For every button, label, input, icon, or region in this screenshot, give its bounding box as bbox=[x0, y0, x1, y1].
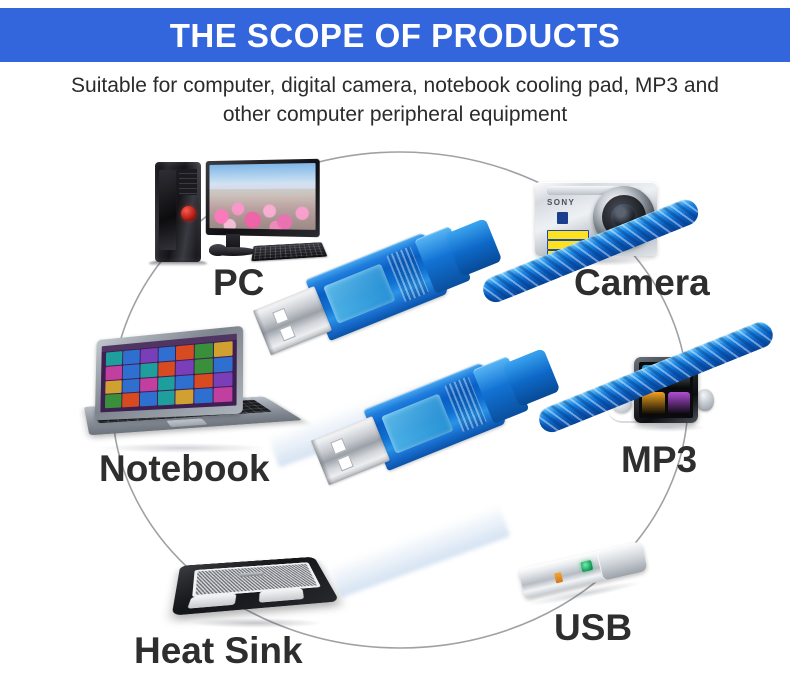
tower-drive-bays bbox=[179, 169, 197, 195]
notebook-screen-tile bbox=[158, 346, 175, 361]
usb-connector-metal-tip bbox=[311, 416, 390, 485]
usb-cable-strain-relief bbox=[502, 348, 560, 407]
camera-lens-glass bbox=[611, 204, 637, 230]
usb-connector-shell bbox=[305, 232, 448, 341]
monitor-screen-wallpaper bbox=[209, 163, 315, 230]
product-label-mp3: MP3 bbox=[621, 441, 697, 478]
camera-sticker bbox=[547, 250, 589, 260]
notebook-screen-tile bbox=[214, 372, 233, 387]
mp3-app-icon bbox=[668, 392, 691, 416]
notebook-screen-tile bbox=[106, 351, 122, 366]
desktop-computer-icon bbox=[155, 162, 201, 262]
usb-connector-window bbox=[381, 394, 453, 454]
usb-connector-grip-ribs bbox=[386, 246, 429, 302]
usb-connector-grip-ribs bbox=[444, 376, 487, 432]
product-notebook bbox=[84, 333, 284, 451]
usb-connector-window bbox=[323, 264, 395, 324]
notebook-screen-tile bbox=[176, 345, 194, 360]
notebook-screen bbox=[100, 334, 236, 413]
notebook-screen-tile bbox=[140, 392, 157, 407]
usb-connector-shell bbox=[363, 362, 506, 471]
tower-shadow bbox=[149, 261, 207, 267]
notebook-screen-tile bbox=[140, 363, 157, 378]
mp3-app-icon bbox=[642, 365, 665, 389]
product-mp3 bbox=[608, 355, 738, 441]
usb-drive-cap bbox=[596, 541, 648, 581]
mp3-shadow bbox=[628, 423, 706, 432]
notebook-screen-tile bbox=[123, 350, 140, 365]
product-pc bbox=[143, 158, 323, 270]
notebook-screen-tile bbox=[140, 348, 157, 363]
camera-lens-mid-ring bbox=[602, 195, 646, 239]
camera-sticker bbox=[547, 230, 589, 240]
tower-power-badge bbox=[181, 206, 196, 221]
notebook-screen-tile bbox=[123, 364, 140, 379]
camera-brand-text: SONY bbox=[547, 198, 575, 207]
product-scope-infographic: THE SCOPE OF PRODUCTS Suitable for compu… bbox=[0, 0, 790, 685]
mp3-app-icon bbox=[668, 365, 691, 389]
product-usb bbox=[520, 545, 670, 615]
mp3-screen bbox=[639, 362, 693, 418]
product-label-heat-sink: Heat Sink bbox=[134, 632, 303, 669]
notebook-screen-tile bbox=[195, 373, 213, 388]
notebook-screen-tile bbox=[158, 361, 175, 376]
usb-connector-collar bbox=[414, 226, 471, 294]
camera-lens-barrel bbox=[593, 186, 655, 248]
mp3-app-icon bbox=[642, 392, 665, 416]
laptop-icon bbox=[95, 326, 243, 421]
monitor-bezel bbox=[206, 159, 320, 237]
heat-sink-shadow bbox=[188, 618, 324, 628]
notebook-screen-tile bbox=[214, 356, 233, 372]
notebook-screen-tile bbox=[140, 377, 157, 392]
header-banner: THE SCOPE OF PRODUCTS bbox=[0, 8, 790, 62]
notebook-screen-tile bbox=[105, 380, 121, 394]
notebook-screen-tile bbox=[157, 391, 175, 406]
notebook-screen-tile bbox=[214, 341, 233, 357]
tower-side-panel bbox=[159, 170, 176, 250]
monitor-icon bbox=[206, 159, 320, 237]
monitor-neck bbox=[226, 234, 240, 248]
notebook-screen-tile bbox=[195, 343, 213, 359]
notebook-screen-tile bbox=[122, 393, 139, 407]
usb-drive-led bbox=[580, 560, 593, 572]
usb-a-connector bbox=[308, 339, 565, 494]
notebook-screen-tile bbox=[105, 394, 121, 408]
notebook-screen-tile bbox=[106, 365, 122, 379]
mp3-player-icon bbox=[634, 357, 698, 423]
keyboard-icon bbox=[251, 242, 327, 261]
notebook-screen-tile bbox=[195, 358, 213, 373]
notebook-screen-tile bbox=[122, 378, 139, 393]
usb-connector-tip-edge bbox=[311, 439, 334, 485]
usb-cable-strain-relief bbox=[444, 218, 502, 277]
camera-lens-badge bbox=[557, 212, 568, 224]
subtitle-text: Suitable for computer, digital camera, n… bbox=[55, 72, 735, 130]
notebook-screen-tile bbox=[176, 390, 194, 405]
notebook-screen-tile bbox=[176, 360, 194, 375]
product-heat-sink bbox=[178, 540, 338, 632]
product-label-camera: Camera bbox=[574, 264, 710, 301]
notebook-screen-tile bbox=[158, 376, 175, 391]
notebook-screen-tile bbox=[195, 388, 213, 403]
notebook-trackpad bbox=[166, 418, 207, 427]
usb-drive-marking bbox=[554, 572, 563, 583]
notebook-screen-tile bbox=[176, 375, 194, 390]
usb-connector-collar bbox=[472, 356, 529, 424]
camera-sticker bbox=[547, 240, 589, 250]
mouse-icon bbox=[209, 244, 227, 256]
earbud-icon bbox=[612, 395, 632, 413]
usb-connector-reflection bbox=[268, 374, 449, 468]
earbud-icon bbox=[696, 389, 714, 411]
product-label-pc: PC bbox=[213, 264, 264, 301]
cooling-pad-icon bbox=[172, 557, 340, 616]
cooling-pad-slot bbox=[259, 589, 304, 603]
usb-connector-reflection bbox=[330, 504, 511, 598]
product-camera: SONY bbox=[527, 172, 687, 272]
notebook-screen-tile bbox=[214, 387, 233, 402]
product-label-notebook: Notebook bbox=[99, 450, 270, 487]
page-title: THE SCOPE OF PRODUCTS bbox=[170, 19, 621, 52]
product-label-usb: USB bbox=[554, 609, 632, 646]
